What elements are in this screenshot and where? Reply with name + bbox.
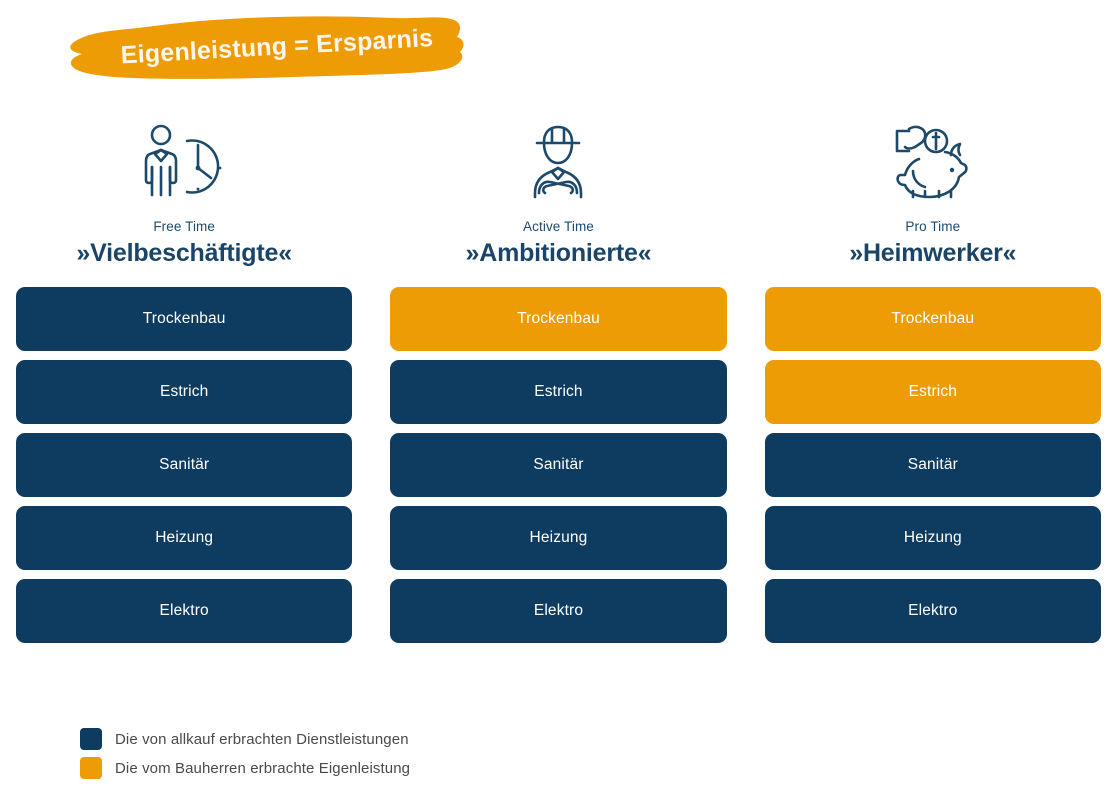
column-heimwerker: Pro Time »Heimwerker« Trockenbau Estrich… (765, 118, 1101, 643)
legend-label: Die vom Bauherren erbrachte Eigenleistun… (115, 760, 410, 777)
legend: Die von allkauf erbrachten Dienstleistun… (80, 728, 410, 779)
legend-row-services: Die von allkauf erbrachten Dienstleistun… (80, 728, 410, 750)
bar-item: Heizung (390, 506, 726, 570)
bar-item: Heizung (765, 506, 1101, 570)
bar-item: Sanitär (16, 433, 352, 497)
column-ambitionierte: Active Time »Ambitionierte« Trockenbau E… (390, 118, 726, 643)
column-subtitle: Pro Time (765, 219, 1101, 234)
bar-item: Estrich (16, 360, 352, 424)
bar-list: Trockenbau Estrich Sanitär Heizung Elekt… (765, 287, 1101, 643)
bar-item: Elektro (16, 579, 352, 643)
bar-item: Elektro (765, 579, 1101, 643)
bar-item: Trockenbau (765, 287, 1101, 351)
worker-hardhat-crossed-arms-icon (390, 118, 726, 204)
column-vielbeschaeftigte: Free Time »Vielbeschäftigte« Trockenbau … (16, 118, 352, 643)
legend-label: Die von allkauf erbrachten Dienstleistun… (115, 731, 409, 748)
column-title: »Heimwerker« (765, 239, 1101, 268)
bar-item: Sanitär (390, 433, 726, 497)
banner: Eigenleistung = Ersparnis (62, 6, 482, 88)
legend-row-self-work: Die vom Bauherren erbrachte Eigenleistun… (80, 757, 410, 779)
bar-item: Trockenbau (16, 287, 352, 351)
bar-item: Heizung (16, 506, 352, 570)
legend-swatch-navy (80, 728, 102, 750)
column-title: »Vielbeschäftigte« (16, 239, 352, 268)
bar-list: Trockenbau Estrich Sanitär Heizung Elekt… (16, 287, 352, 643)
bar-item: Estrich (390, 360, 726, 424)
bar-list: Trockenbau Estrich Sanitär Heizung Elekt… (390, 287, 726, 643)
legend-swatch-orange (80, 757, 102, 779)
comparison-columns: Free Time »Vielbeschäftigte« Trockenbau … (16, 118, 1101, 643)
column-title: »Ambitionierte« (390, 239, 726, 268)
person-with-clock-icon (16, 118, 352, 204)
bar-item: Elektro (390, 579, 726, 643)
column-subtitle: Active Time (390, 219, 726, 234)
bar-item: Sanitär (765, 433, 1101, 497)
bar-item: Estrich (765, 360, 1101, 424)
column-subtitle: Free Time (16, 219, 352, 234)
piggy-bank-coin-icon (765, 118, 1101, 204)
bar-item: Trockenbau (390, 287, 726, 351)
